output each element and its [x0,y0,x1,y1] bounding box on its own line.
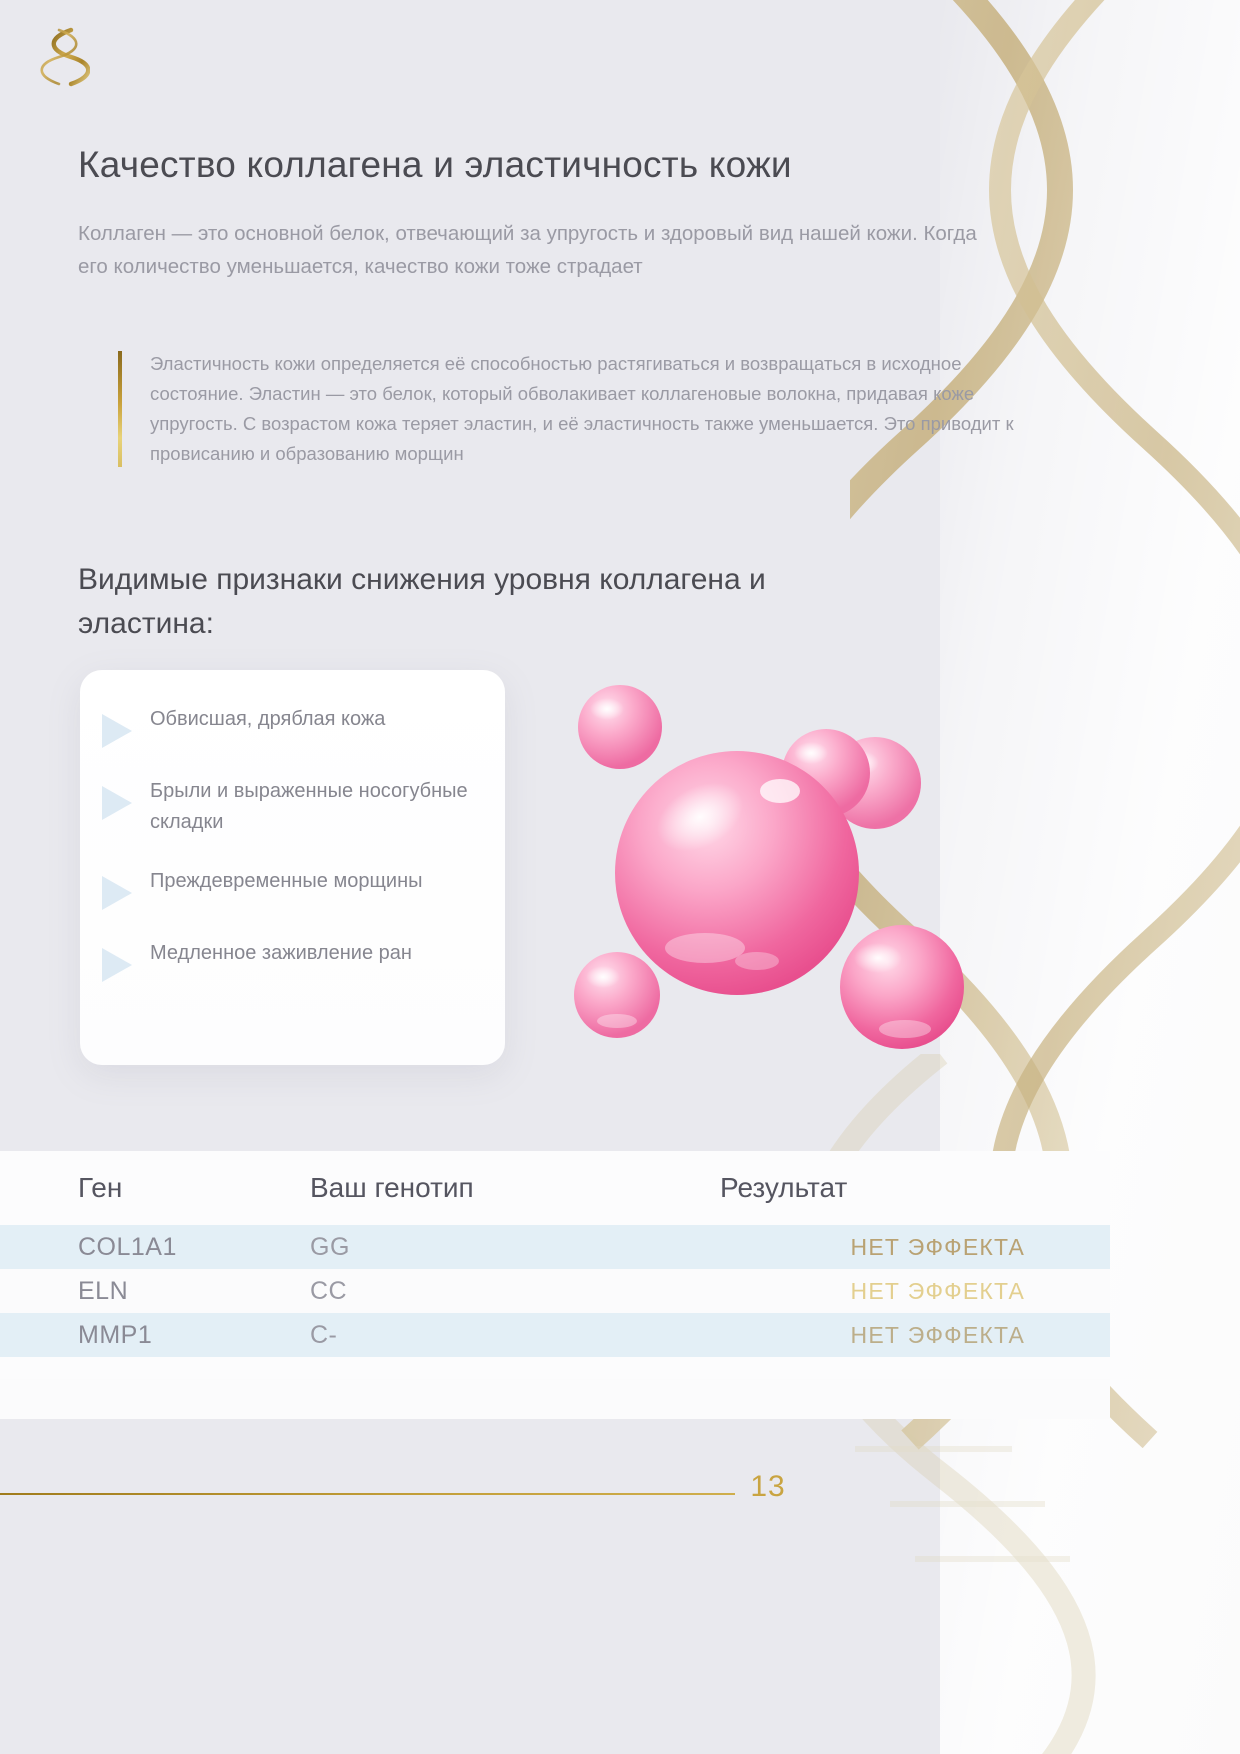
cell-gene: COL1A1 [0,1233,310,1262]
list-item-label: Брыли и выраженные носогубные складки [150,772,491,838]
page-number: 13 [738,1470,798,1504]
triangle-right-icon [102,948,132,982]
cell-result: НЕТ ЭФФЕКТА [720,1278,1110,1305]
genotype-table: Ген Ваш генотип Результат COL1A1 GG НЕТ … [0,1151,1110,1357]
table-row: COL1A1 GG НЕТ ЭФФЕКТА [0,1225,1110,1269]
footer-divider [0,1493,735,1495]
triangle-right-icon [102,786,132,820]
table-background-band-tail [0,1379,1110,1419]
cell-gene: ELN [0,1277,310,1306]
table-row: ELN CC НЕТ ЭФФЕКТА [0,1269,1110,1313]
signs-list: Обвисшая, дряблая кожа Брыли и выраженны… [102,700,491,982]
quote-block: Эластичность кожи определяется её способ… [118,349,1050,469]
column-header-genotype: Ваш генотип [310,1172,720,1204]
signs-card: Обвисшая, дряблая кожа Брыли и выраженны… [80,670,505,1065]
list-item: Обвисшая, дряблая кожа [102,700,491,748]
cell-gene: MMP1 [0,1321,310,1350]
list-item-label: Обвисшая, дряблая кожа [150,700,385,735]
quote-text: Эластичность кожи определяется её способ… [150,349,1050,469]
page-title: Качество коллагена и эластичность кожи [78,143,1018,187]
cell-result: НЕТ ЭФФЕКТА [720,1234,1110,1261]
cell-result: НЕТ ЭФФЕКТА [720,1322,1110,1349]
triangle-right-icon [102,714,132,748]
column-header-result: Результат [720,1172,1110,1204]
list-item-label: Медленное заживление ран [150,934,412,969]
dna-helix-icon [38,26,90,88]
cell-genotype: CC [310,1277,720,1306]
list-item: Медленное заживление ран [102,934,491,982]
section-title: Видимые признаки снижения уровня коллаге… [78,558,878,646]
list-item-label: Преждевременные морщины [150,862,423,897]
lead-paragraph: Коллаген — это основной белок, отвечающи… [78,217,988,283]
column-header-gene: Ген [0,1172,310,1204]
table-header-row: Ген Ваш генотип Результат [0,1151,1110,1225]
list-item: Преждевременные морщины [102,862,491,910]
list-item: Брыли и выраженные носогубные складки [102,772,491,838]
cell-genotype: GG [310,1233,720,1262]
table-row: MMP1 C- НЕТ ЭФФЕКТА [0,1313,1110,1357]
pink-collagen-bubbles-illustration [545,665,1015,1085]
cell-genotype: C- [310,1321,720,1350]
triangle-right-icon [102,876,132,910]
